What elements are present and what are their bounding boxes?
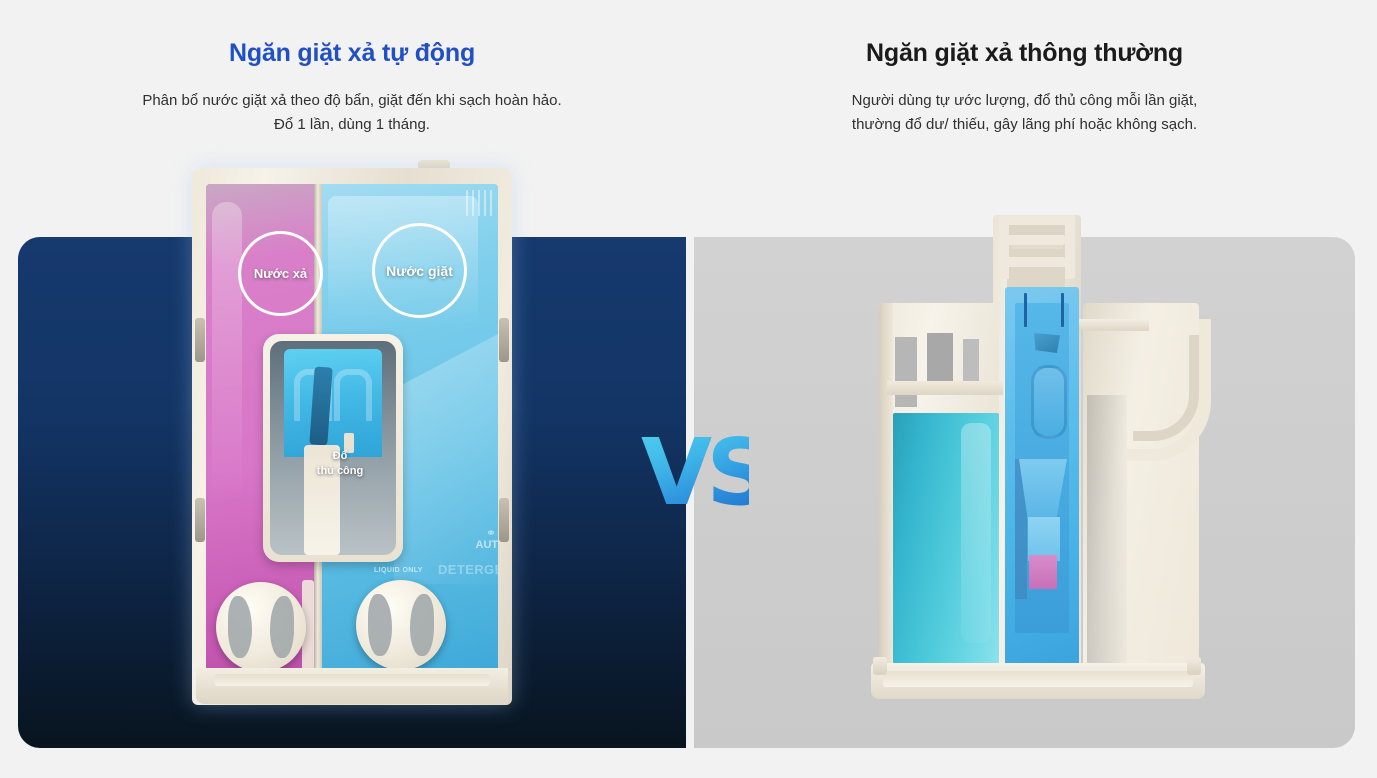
left-compartment-block-c bbox=[963, 339, 979, 383]
softener-residue bbox=[1029, 555, 1057, 589]
right-title: Ngăn giặt xả thông thường bbox=[694, 38, 1355, 69]
comparison-graphic: Ngăn giặt xả tự động Phân bổ nước giặt x… bbox=[0, 0, 1377, 778]
left-subtitle-line2: Đổ 1 lần, dùng 1 tháng. bbox=[274, 116, 430, 133]
left-compartment-shelf bbox=[887, 381, 1003, 395]
manual-pour-line2: thủ công bbox=[317, 465, 363, 477]
right-subtitle: Người dùng tự ước lượng, đổ thủ công mỗi… bbox=[694, 89, 1355, 136]
manual-pour-chamber: Đổ thủ công bbox=[263, 334, 403, 562]
manual-pour-chamber-inner: Đổ thủ công bbox=[270, 341, 396, 555]
divider-oval-grip bbox=[1031, 365, 1067, 439]
left-title: Ngăn giặt xả tự động bbox=[18, 38, 686, 69]
vs-badge: VS bbox=[641, 425, 749, 521]
left-compartment-block-a bbox=[895, 337, 917, 407]
liquid-only-print: LIQUID ONLY bbox=[374, 567, 423, 574]
left-subtitle-line1: Phân bổ nước giặt xả theo độ bẩn, giặt đ… bbox=[142, 92, 561, 109]
vent-comb-icon bbox=[466, 190, 494, 216]
left-compartment-wall bbox=[879, 303, 893, 677]
auto-badge: ⚭ AUTO bbox=[470, 527, 498, 561]
rail-right-upper bbox=[499, 318, 509, 362]
rail-left-lower bbox=[195, 498, 205, 542]
right-subtitle-line2: thường đổ dư/ thiếu, gây lãng phí hoặc k… bbox=[852, 116, 1197, 133]
handle-rungs bbox=[1007, 235, 1065, 245]
manual-pour-label: Đổ thủ công bbox=[270, 449, 396, 478]
dispense-valve bbox=[284, 349, 382, 457]
left-header: Ngăn giặt xả tự động Phân bổ nước giặt x… bbox=[18, 38, 686, 136]
softener-valve-cap bbox=[216, 582, 306, 672]
drawer-clip-right bbox=[1187, 657, 1201, 675]
divider-pin-left bbox=[1024, 293, 1027, 327]
divider-tab bbox=[1034, 333, 1060, 353]
softener-callout: Nước xả bbox=[238, 231, 323, 316]
auto-dispense-icon: ⚭ bbox=[470, 527, 498, 539]
auto-badge-label: AUTO bbox=[476, 539, 498, 551]
softener-callout-label: Nước xả bbox=[254, 266, 307, 281]
rail-right-lower bbox=[499, 498, 509, 542]
softener-gloss bbox=[212, 202, 242, 502]
manual-drawer-illustration bbox=[865, 215, 1210, 705]
right-compartment-shadow bbox=[1087, 395, 1127, 673]
dispenser-interior: LIQUID ONLY DETERGENT ⚭ AUTO Đổ thủ công bbox=[206, 184, 498, 692]
manual-pour-line1: Đổ bbox=[333, 450, 348, 462]
detergent-print: DETERGENT bbox=[438, 562, 498, 577]
detergent-liquid-gloss bbox=[961, 423, 991, 643]
detergent-callout-label: Nước giặt bbox=[386, 263, 453, 279]
drawer-base-inner bbox=[883, 671, 1193, 687]
drawer-clip-left bbox=[873, 657, 887, 675]
dispenser-casing: LIQUID ONLY DETERGENT ⚭ AUTO Đổ thủ công bbox=[192, 168, 512, 705]
detergent-valve-cap bbox=[356, 580, 446, 670]
detergent-callout: Nước giặt bbox=[372, 223, 467, 318]
left-subtitle: Phân bổ nước giặt xả theo độ bẩn, giặt đ… bbox=[18, 89, 686, 136]
right-header: Ngăn giặt xả thông thường Người dùng tự … bbox=[694, 38, 1355, 136]
auto-dispenser-illustration: LIQUID ONLY DETERGENT ⚭ AUTO Đổ thủ công bbox=[192, 160, 512, 705]
rail-left-upper bbox=[195, 318, 205, 362]
divider-pin-right bbox=[1061, 293, 1064, 327]
left-compartment-block-b bbox=[927, 333, 953, 383]
right-subtitle-line1: Người dùng tự ước lượng, đổ thủ công mỗi… bbox=[852, 92, 1198, 109]
dispenser-bottom-lip-inner bbox=[214, 674, 490, 686]
